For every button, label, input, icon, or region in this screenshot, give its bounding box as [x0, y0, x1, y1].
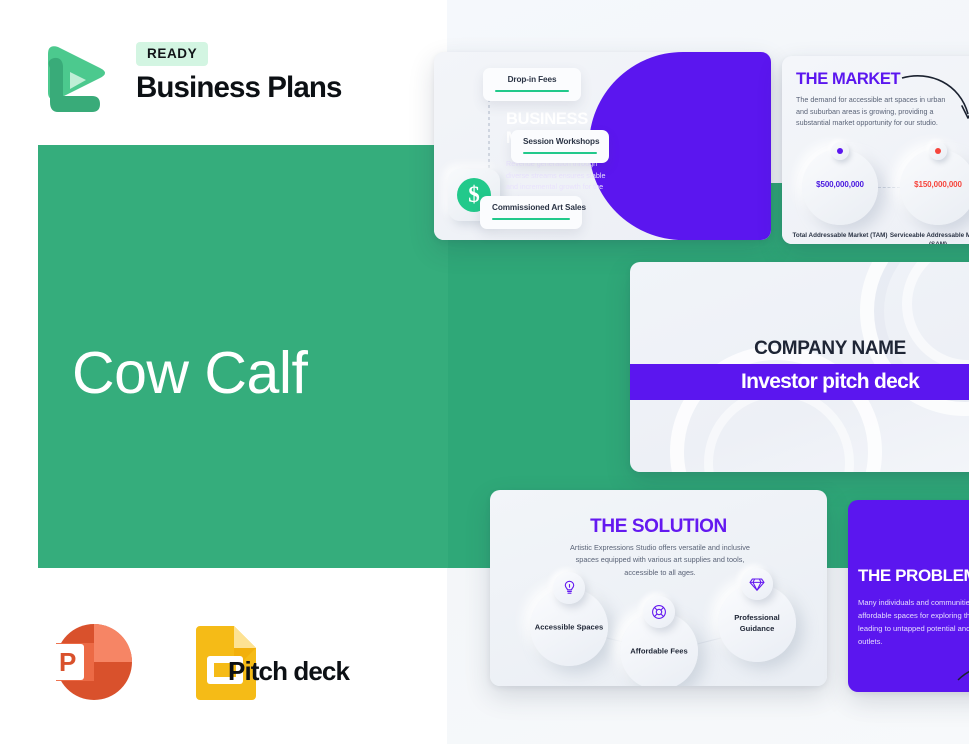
brand-header: READY Business Plans [40, 36, 400, 122]
metric-value: $500,000,000 [802, 180, 878, 189]
solution-node-professional-guidance: Professional Guidance [718, 584, 796, 662]
slide-the-problem[interactable]: THE PROBLEM Many individuals and communi… [848, 500, 969, 692]
market-connector [878, 187, 900, 188]
market-title: THE MARKET [796, 70, 900, 89]
format-label: Pitch deck [228, 656, 349, 687]
brand-text-block: READY Business Plans [136, 42, 341, 105]
page-title: Cow Calf [72, 343, 307, 405]
slide-the-solution[interactable]: THE SOLUTION Artistic Expressions Studio… [490, 490, 827, 686]
metric-dot-cap [929, 142, 947, 160]
solution-node-label: Affordable Fees [620, 646, 698, 657]
slide-company-name[interactable]: COMPANY NAME Investor pitch deck [630, 262, 969, 472]
bm-item-label: Session Workshops [523, 137, 597, 146]
metric-caption: Total Addressable Market (TAM) [790, 231, 890, 240]
ready-badge: READY [136, 42, 208, 66]
curved-arrow-icon [900, 70, 969, 132]
brand-name: Business Plans [136, 71, 341, 105]
bm-purple-shape [589, 52, 771, 240]
page-root: Cow Calf READY Business Plans P [0, 0, 969, 744]
market-metric-tam: $500,000,000 Total Addressable Market (T… [802, 149, 878, 225]
solution-title: THE SOLUTION [490, 516, 827, 538]
lifebuoy-icon [643, 596, 675, 628]
bm-item-session-workshops: Session Workshops [511, 130, 609, 163]
solution-node-label: Professional Guidance [718, 612, 796, 634]
problem-title: THE PROBLEM [858, 566, 969, 586]
solution-node-label: Accessible Spaces [530, 622, 608, 633]
metric-value: $150,000,000 [900, 180, 969, 189]
bm-item-commissioned-art-sales: Commissioned Art Sales [480, 196, 582, 229]
company-name-title: COMPANY NAME [630, 338, 969, 360]
solution-body-text: Artistic Expressions Studio offers versa… [560, 542, 760, 579]
investor-pitch-deck-band: Investor pitch deck [630, 364, 969, 400]
bm-item-underline [495, 90, 569, 92]
problem-arrow-icon [956, 658, 969, 688]
slide-the-market[interactable]: THE MARKET The demand for accessible art… [782, 56, 969, 244]
metric-caption: Serviceable Addressable Market (SAM) [888, 231, 969, 244]
lightbulb-icon [553, 572, 585, 604]
problem-body-text: Many individuals and communities lack ac… [858, 596, 969, 648]
bm-item-drop-in-fees: Drop-in Fees [483, 68, 581, 101]
diamond-icon [741, 568, 773, 600]
bm-item-label: Commissioned Art Sales [492, 203, 570, 212]
metric-dot-cap [831, 142, 849, 160]
powerpoint-icon: P [40, 618, 132, 704]
solution-node-accessible-spaces: Accessible Spaces [530, 588, 608, 666]
solution-node-affordable-fees: Affordable Fees [620, 612, 698, 686]
svg-text:P: P [59, 647, 76, 677]
bm-item-underline [523, 152, 597, 154]
bm-item-label: Drop-in Fees [495, 75, 569, 84]
green-play-logo-icon [40, 38, 110, 118]
bm-title-line1: BUSINESS [506, 110, 588, 129]
bm-item-underline [492, 218, 570, 220]
investor-pitch-deck-label: Investor pitch deck [630, 364, 969, 400]
market-metric-sam: $150,000,000 Serviceable Addressable Mar… [900, 149, 969, 225]
